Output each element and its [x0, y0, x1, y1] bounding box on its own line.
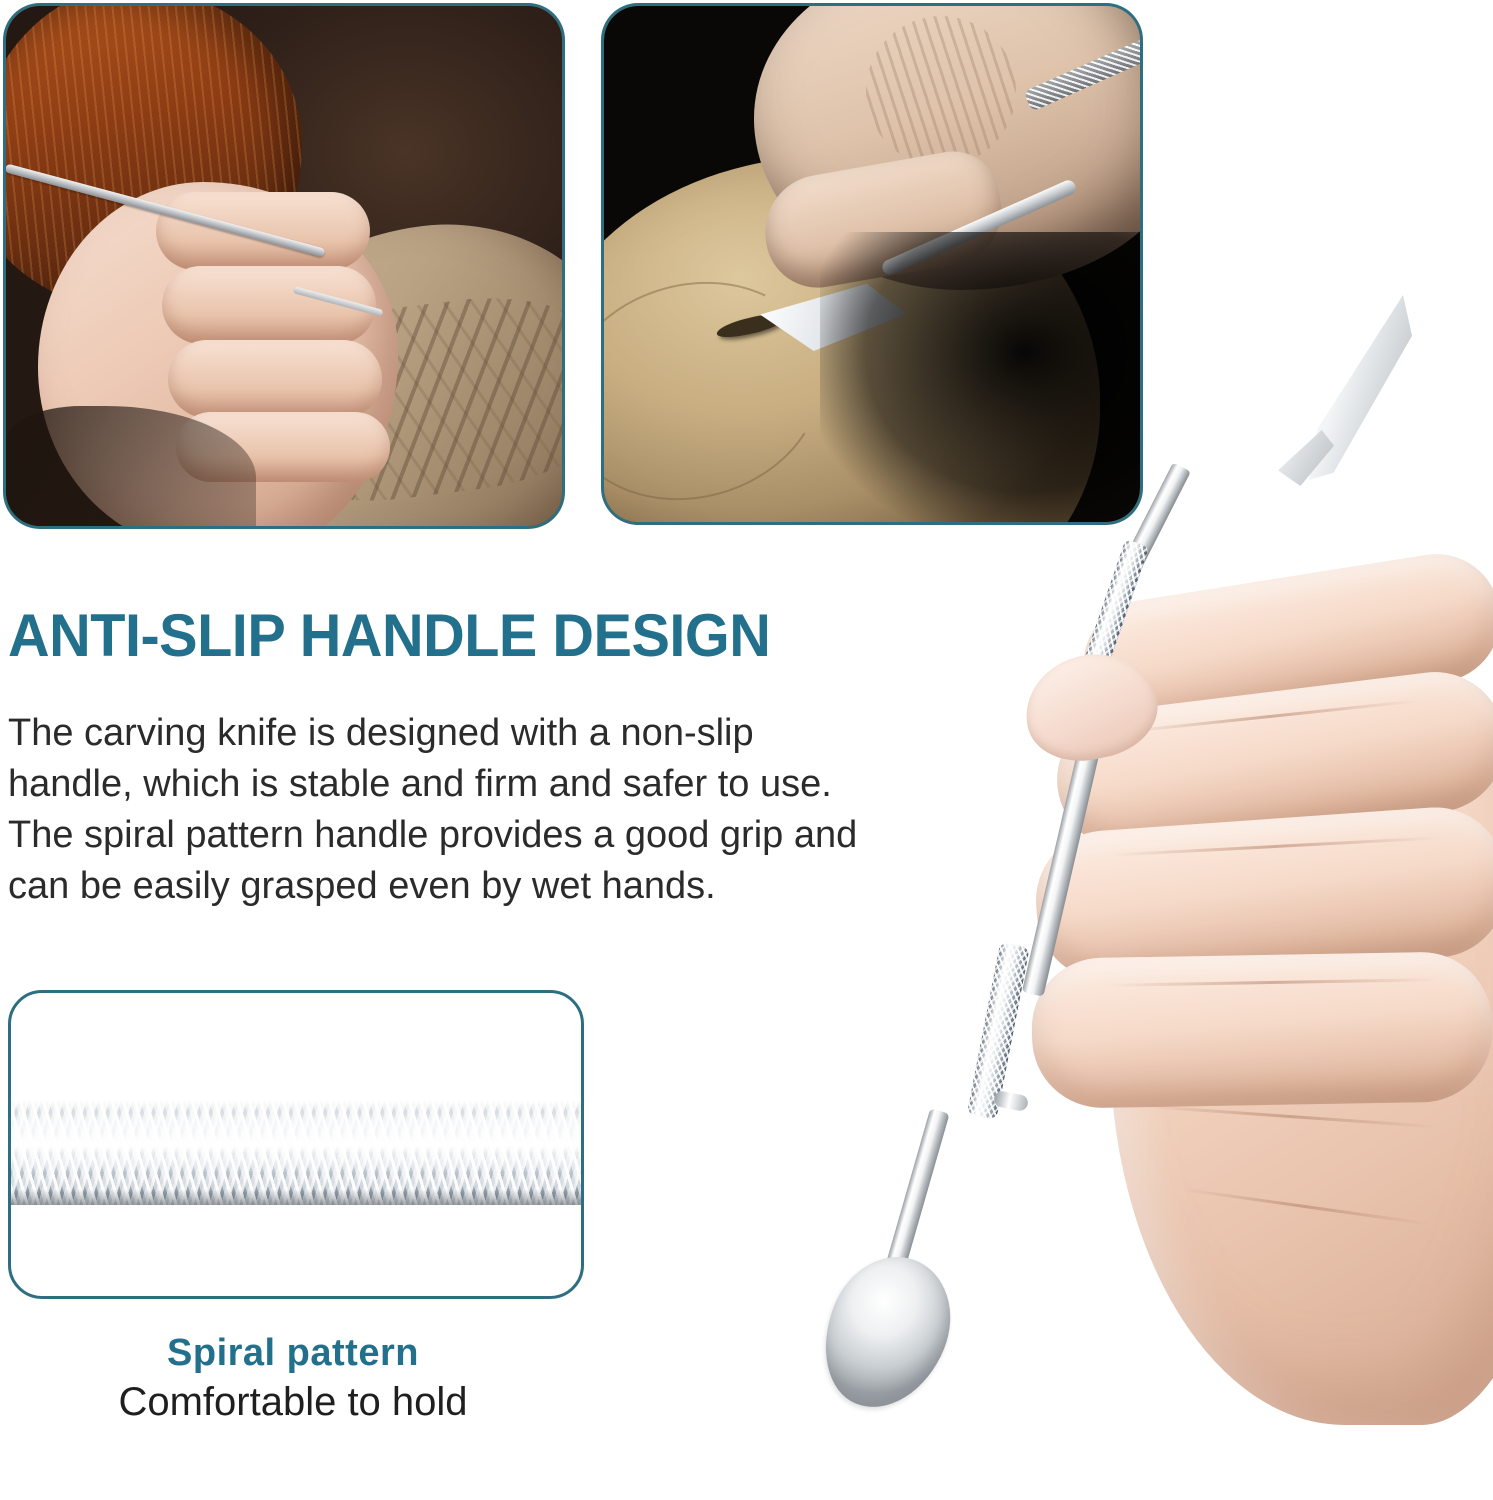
detail-caption: Spiral pattern Comfortable to hold	[8, 1330, 578, 1428]
infographic-root: ANTI-SLIP HANDLE DESIGN The carving knif…	[0, 0, 1493, 1500]
spoon-end	[803, 1239, 970, 1427]
description-line: The carving knife is designed with a non…	[8, 708, 908, 759]
description-line: handle, which is stable and firm and saf…	[8, 759, 908, 810]
caption-subtitle: Comfortable to hold	[8, 1376, 578, 1428]
hand-holding-carving-tool-photo	[780, 255, 1493, 1500]
carving-tool	[780, 255, 1493, 1500]
caption-title: Spiral pattern	[8, 1330, 578, 1376]
description-line: can be easily grasped even by wet hands.	[8, 861, 908, 912]
knuckle-texture	[866, 16, 1016, 166]
middle-shaft	[1022, 739, 1102, 997]
potter-carving-pattern-photo	[6, 6, 562, 526]
spiral-knurl-closeup	[8, 990, 584, 1299]
description-line: The spiral pattern handle provides a goo…	[8, 810, 908, 861]
description-paragraph: The carving knife is designed with a non…	[8, 708, 908, 912]
knurled-handle-texture	[8, 1101, 584, 1205]
